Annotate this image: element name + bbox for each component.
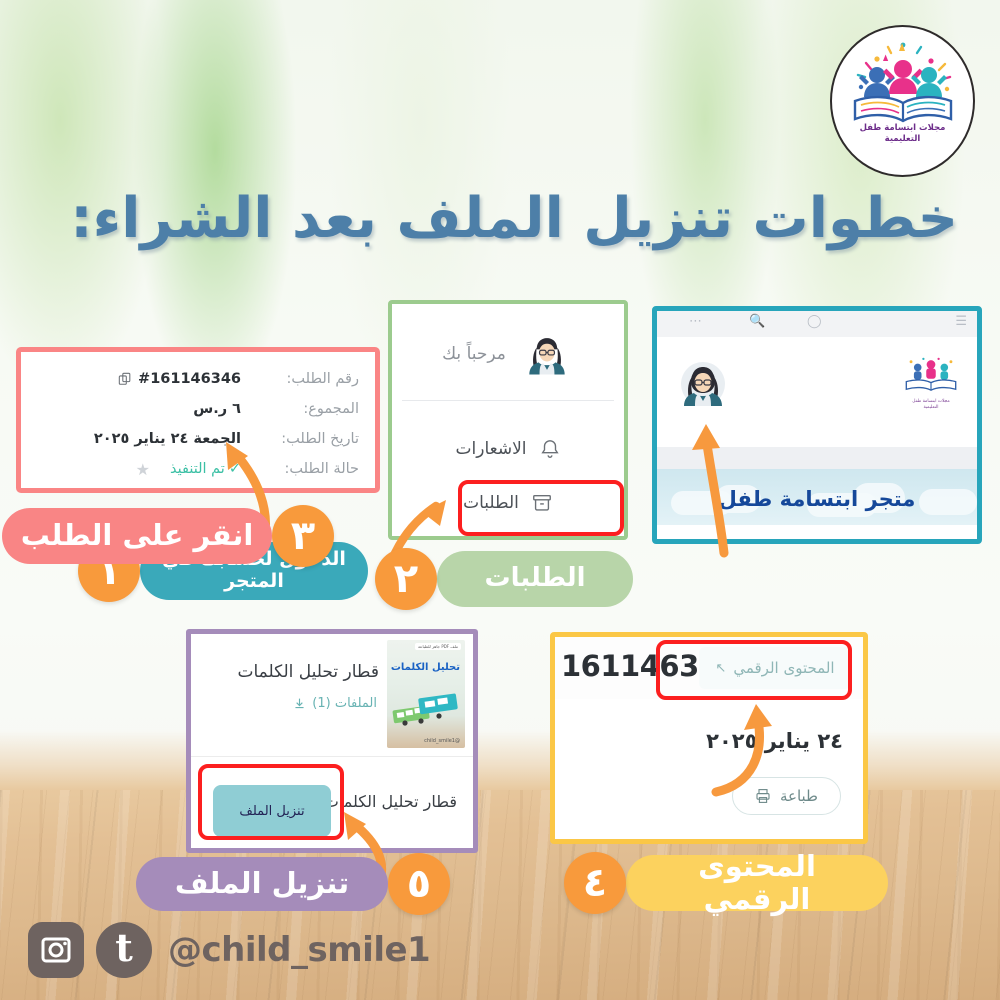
store-account-avatar[interactable] <box>674 355 732 413</box>
download-file-button[interactable]: تنزيل الملف <box>213 785 331 837</box>
copy-icon[interactable] <box>118 372 132 386</box>
welcome-row: مرحباً بك <box>392 314 624 394</box>
step5-pill: تنزيل الملف <box>136 857 388 911</box>
arrow-up-left-icon: ↖ <box>715 661 726 676</box>
total-value: ٦ ر.س <box>37 401 247 417</box>
step5-number: ٥ <box>388 853 450 915</box>
search-icon: 🔍 <box>749 314 765 329</box>
table-row: رقم الطلب: #161146346 <box>37 364 359 394</box>
table-row: حالة الطلب: ✓تم التنفيذ ★ <box>37 454 359 484</box>
order-number-value: #161146346 <box>37 371 247 387</box>
print-label: طباعة <box>780 787 818 805</box>
table-row: المجموع: ٦ ر.س <box>37 394 359 424</box>
archive-box-icon <box>531 492 553 514</box>
more-icon: ⋯ <box>689 314 702 329</box>
order-date-label: تاريخ الطلب: <box>247 431 359 447</box>
instagram-icon <box>39 933 73 967</box>
digital-content-tab[interactable]: المحتوى الرقمي ↖ <box>699 647 851 689</box>
order-details-table: رقم الطلب: #161146346 المجموع: ٦ ر.س تار… <box>21 352 375 488</box>
step3-number: ٣ <box>272 505 334 567</box>
store-name: متجر ابتسامة طفل <box>657 487 977 511</box>
status-badge: ✓تم التنفيذ <box>170 461 241 477</box>
page-title: خطوات تنزيل الملف بعد الشراء: <box>48 186 958 251</box>
cart-icon: ◯ <box>807 314 822 329</box>
orders-label: الطلبات <box>463 493 519 513</box>
step2-number: ٢ <box>375 548 437 610</box>
order-status-label: حالة الطلب: <box>247 461 359 477</box>
menu-item-orders[interactable]: الطلبات <box>392 482 624 524</box>
files-count: الملفات (1) <box>293 696 377 711</box>
printer-icon <box>755 788 771 804</box>
social-handle: @child_smile1 <box>168 930 430 970</box>
step2-label: ٢ الطلبات <box>375 548 617 610</box>
product-block: ملف PDF جاهز للطباعة تحليل الكلمات @chil… <box>191 634 473 756</box>
step3-label: انقر على الطلب ٣ <box>20 505 334 567</box>
files-label: الملفات (1) <box>312 696 377 711</box>
step5-label: تنزيل الملف ٥ <box>154 853 450 915</box>
order-date-value: الجمعة ٢٤ يناير ٢٠٢٥ <box>37 431 247 447</box>
user-avatar-icon <box>674 355 732 413</box>
store-brand-logo: مجلات ابتسامة طفل التعليمية <box>901 356 961 412</box>
user-avatar-icon <box>520 327 574 381</box>
children-book-logo-icon <box>847 39 959 125</box>
digital-content-label: المحتوى الرقمي <box>733 659 834 677</box>
check-icon: ✓ <box>229 461 241 477</box>
product-title: قطار تحليل الكلمات <box>237 662 379 682</box>
brand-logo: مجلات ابتسامة طفل التعليمية <box>830 25 975 177</box>
step5-files-screenshot: ملف PDF جاهز للطباعة تحليل الكلمات @chil… <box>186 629 478 853</box>
order-status-value: ✓تم التنفيذ ★ <box>37 460 247 479</box>
print-button[interactable]: طباعة <box>732 777 841 815</box>
step2-account-menu-screenshot: مرحباً بك الاشعارات الطلبات <box>388 300 628 540</box>
train-illustration-icon <box>391 692 461 726</box>
infographic-canvas: مجلات ابتسامة طفل التعليمية خطوات تنزيل … <box>0 0 1000 1000</box>
step3-order-row-screenshot[interactable]: رقم الطلب: #161146346 المجموع: ٦ ر.س تار… <box>16 347 380 493</box>
menu-item-notifications[interactable]: الاشعارات <box>392 432 624 466</box>
store-divider-band <box>657 447 977 469</box>
step1-store-screenshot: ☰ 🔍 ◯ ⋯ <box>652 306 982 544</box>
menu-divider <box>402 400 614 401</box>
store-topbar: ☰ 🔍 ◯ ⋯ <box>657 311 977 337</box>
file-product-name: قطار تحليل الكلمات <box>324 792 457 811</box>
notifications-label: الاشعارات <box>456 439 527 459</box>
thumb-title: تحليل الكلمات <box>391 662 460 673</box>
step4-order-page-screenshot: المحتوى الرقمي ↖ 1611463 ٢٤ يناير ٢٠٢٥ ط… <box>550 632 868 844</box>
step4-number: ٤ <box>564 852 626 914</box>
step3-pill: انقر على الطلب <box>2 508 272 564</box>
step4-label: ٤ المحتوى الرقمي <box>564 852 870 914</box>
store-logo-caption: مجلات ابتسامة طفل التعليمية <box>901 399 961 410</box>
footer-social: t @child_smile1 <box>28 922 430 978</box>
welcome-text: مرحباً بك <box>442 344 506 364</box>
logo-caption: مجلات ابتسامة طفل التعليمية <box>860 123 946 146</box>
order-number-heading: 1611463 <box>561 649 699 683</box>
product-thumbnail: ملف PDF جاهز للطباعة تحليل الكلمات @chil… <box>387 640 465 748</box>
bell-icon <box>539 438 561 460</box>
file-row: قطار تحليل الكلمات تنزيل الملف <box>191 757 473 852</box>
star-icon[interactable]: ★ <box>136 460 150 479</box>
store-bottom-strip <box>657 525 977 539</box>
store-logo-icon <box>901 356 961 394</box>
table-row: تاريخ الطلب: الجمعة ٢٤ يناير ٢٠٢٥ <box>37 424 359 454</box>
thumb-social-handle: @child_smile1 <box>424 738 460 744</box>
telegram-button[interactable]: t <box>96 922 152 978</box>
telegram-icon: t <box>115 929 133 967</box>
order-number-label: رقم الطلب: <box>247 371 359 387</box>
thumb-badge: ملف PDF جاهز للطباعة <box>415 643 461 650</box>
total-label: المجموع: <box>247 401 359 417</box>
download-icon <box>293 697 306 710</box>
step2-pill: الطلبات <box>437 551 633 607</box>
step4-pill: المحتوى الرقمي <box>626 855 888 911</box>
instagram-button[interactable] <box>28 922 84 978</box>
order-date: ٢٤ يناير ٢٠٢٥ <box>706 729 843 753</box>
menu-icon: ☰ <box>955 314 967 329</box>
